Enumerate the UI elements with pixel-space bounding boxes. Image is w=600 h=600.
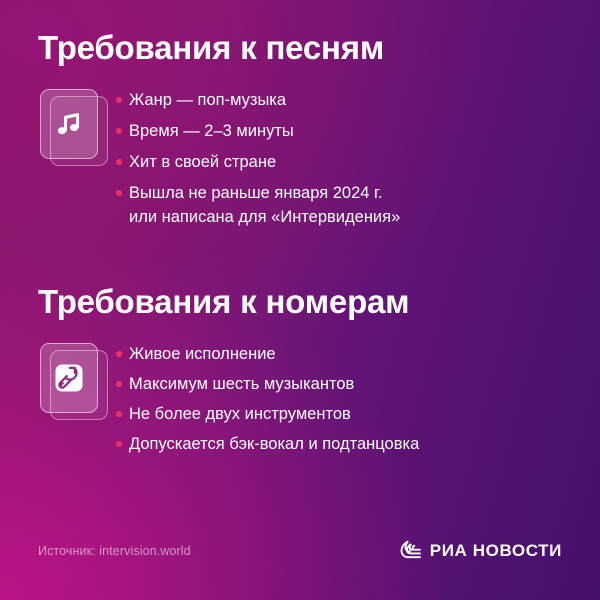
section-title-performances: Требования к номерам: [0, 282, 600, 322]
list-item: Живое исполнение: [116, 342, 562, 366]
section-body-songs: Жанр — поп-музыка Время — 2–3 минуты Хит…: [0, 87, 600, 229]
list-item: Максимум шесть музыкантов: [116, 372, 562, 396]
brand-name: РИА НОВОСТИ: [430, 541, 562, 561]
ria-swirl-icon: [400, 538, 422, 565]
list-item: Не более двух инструментов: [116, 402, 562, 426]
section-body-performances: Живое исполнение Максимум шесть музыкант…: [0, 341, 600, 462]
section-songs: Требования к песням Жанр — поп-музыка: [0, 28, 600, 229]
music-note-icon: [54, 109, 84, 139]
brand-logo: РИА НОВОСТИ: [400, 538, 562, 565]
list-item: Вышла не раньше января 2024 г. или напис…: [116, 181, 562, 229]
list-item: Жанр — поп-музыка: [116, 88, 562, 112]
icon-card-songs: [38, 89, 116, 171]
icon-card-performances: [38, 343, 116, 425]
infographic-poster: Требования к песням Жанр — поп-музыка: [0, 0, 600, 600]
microphone-icon: [54, 363, 84, 393]
list-item: Хит в своей стране: [116, 150, 562, 174]
list-item: Допускается бэк-вокал и подтанцовка: [116, 432, 562, 456]
list-item: Время — 2–3 минуты: [116, 119, 562, 143]
footer: Источник: intervision.world РИА НОВОСТИ: [0, 538, 600, 564]
icon-card-front: [40, 89, 98, 159]
bullet-list-performances: Живое исполнение Максимум шесть музыкант…: [116, 341, 562, 462]
icon-card-front: [40, 343, 98, 413]
source-attribution: Источник: intervision.world: [38, 543, 191, 559]
bullet-list-songs: Жанр — поп-музыка Время — 2–3 минуты Хит…: [116, 87, 562, 229]
section-title-songs: Требования к песням: [0, 28, 600, 68]
section-performances: Требования к номерам: [0, 282, 600, 462]
